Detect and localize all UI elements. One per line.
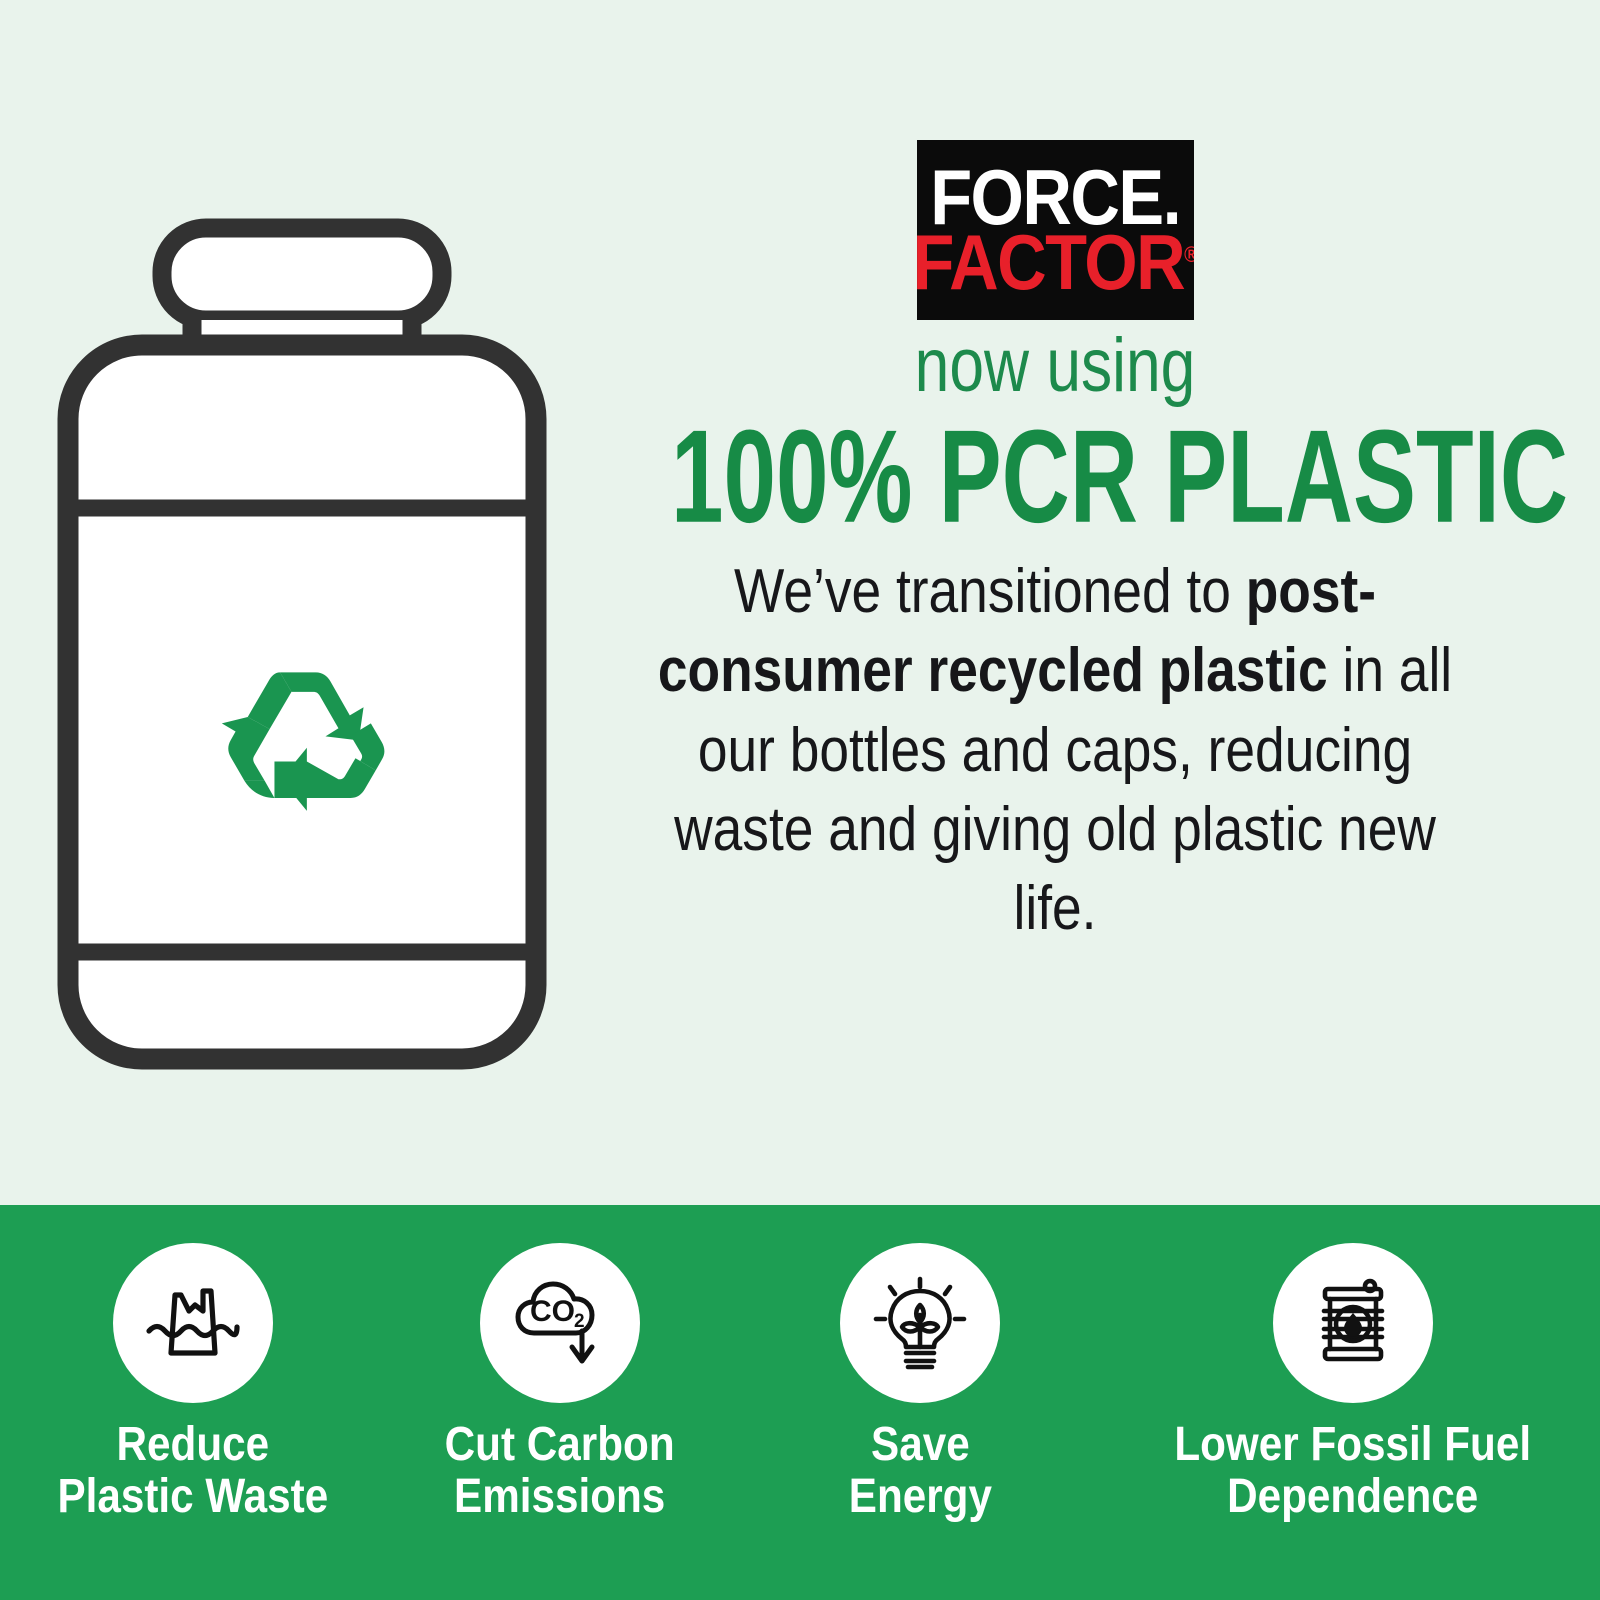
benefit-cut-carbon-emissions: CO 2 Cut Carbon Emissions (385, 1243, 735, 1523)
benefit-icon-circle (1273, 1243, 1433, 1403)
body-line-1: We’ve transitioned to (734, 557, 1231, 626)
lightbulb-plant-icon (864, 1267, 976, 1379)
plastic-bag-in-water-icon (137, 1267, 249, 1379)
benefit-label: Reduce Plastic Waste (57, 1419, 328, 1523)
benefit-icon-circle (113, 1243, 273, 1403)
hero-kicker: now using (661, 328, 1448, 404)
benefit-label: Lower Fossil Fuel Dependence (1174, 1419, 1531, 1523)
body-bold-plastic: plastic (1159, 636, 1328, 705)
infographic-page: FORCE. FACTOR® now using 100% PCR PLASTI… (0, 0, 1600, 1600)
logo-factor-text: FACTOR (917, 218, 1185, 305)
benefit-label: Cut Carbon Emissions (445, 1419, 675, 1523)
hero-content: FORCE. FACTOR® now using 100% PCR PLASTI… (575, 140, 1535, 949)
supplement-tub-illustration (40, 190, 560, 1090)
benefit-icon-circle: CO 2 (480, 1243, 640, 1403)
force-factor-logo: FORCE. FACTOR® (917, 140, 1194, 320)
logo-line-factor: FACTOR® (917, 230, 1194, 295)
benefit-save-energy: Save Energy (735, 1243, 1105, 1523)
oil-barrel-droplet-icon (1297, 1267, 1409, 1379)
hero-body-copy: We’ve transitioned to post-consumer recy… (642, 552, 1468, 949)
benefits-banner: Reduce Plastic Waste CO 2 Cut Carbon Emi… (0, 1205, 1600, 1600)
benefit-reduce-plastic-waste: Reduce Plastic Waste (0, 1243, 385, 1523)
svg-text:CO: CO (530, 1295, 575, 1328)
hero-headline: 100% PCR PLASTIC (671, 411, 1439, 543)
benefit-icon-circle (840, 1243, 1000, 1403)
registered-trademark-icon: ® (1184, 243, 1193, 268)
benefit-lower-fossil-fuel: Lower Fossil Fuel Dependence (1105, 1243, 1600, 1523)
benefit-label: Save Energy (848, 1419, 991, 1523)
co2-cloud-down-arrow-icon: CO 2 (504, 1267, 616, 1379)
tub-cap-top (162, 228, 442, 320)
benefits-row: Reduce Plastic Waste CO 2 Cut Carbon Emi… (0, 1205, 1600, 1600)
